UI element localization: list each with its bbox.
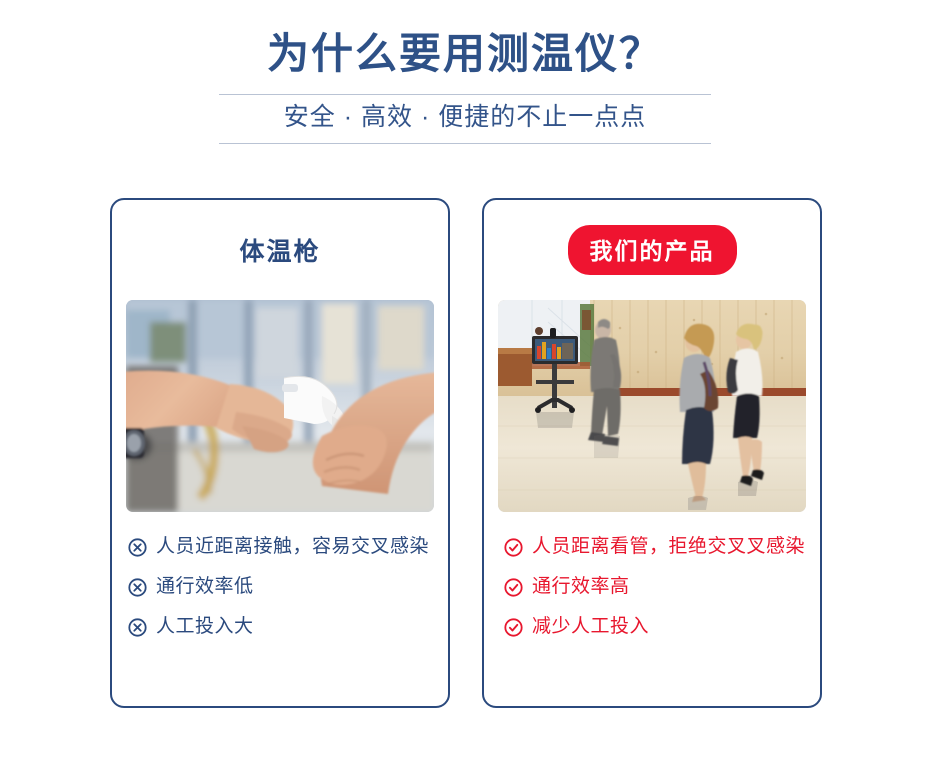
- list-item: 通行效率低: [128, 574, 436, 600]
- circle-check-icon: [504, 578, 523, 597]
- circle-x-icon: [128, 578, 147, 597]
- card-left-header: 体温枪: [112, 200, 448, 300]
- circle-check-icon: [504, 538, 523, 557]
- card-left-title: 体温枪: [239, 232, 320, 268]
- promo-page: 为什么要用测温仪？ 安全 · 高效 · 便捷的不止一点点 体温枪: [0, 0, 930, 771]
- page-header: 为什么要用测温仪？ 安全 · 高效 · 便捷的不止一点点: [0, 0, 930, 144]
- page-subtitle: 安全 · 高效 · 便捷的不止一点点: [219, 102, 711, 133]
- list-item-label: 减少人工投入: [532, 614, 649, 640]
- list-item-label: 人工投入大: [156, 614, 254, 640]
- list-item: 人员近距离接触，容易交叉感染: [128, 534, 436, 560]
- comparison-cards: 体温枪: [110, 198, 822, 708]
- list-item: 减少人工投入: [504, 614, 812, 640]
- circle-check-icon: [504, 618, 523, 637]
- subtitle-divider-band: 安全 · 高效 · 便捷的不止一点点: [219, 94, 711, 143]
- card-thermometer-gun: 体温枪: [110, 198, 450, 708]
- list-item: 人工投入大: [128, 614, 436, 640]
- card-right-bullet-list: 人员距离看管，拒绝交叉叉感染 通行效率高: [504, 534, 812, 641]
- list-item: 通行效率高: [504, 574, 812, 600]
- card-left-bullet-list: 人员近距离接触，容易交叉感染 通行效率低: [128, 534, 436, 641]
- circle-x-icon: [128, 618, 147, 637]
- photo-thermometer-gun: [126, 300, 434, 512]
- page-title: 为什么要用测温仪？: [0, 30, 930, 78]
- list-item-label: 通行效率高: [532, 574, 630, 600]
- card-our-product: 我们的产品: [482, 198, 822, 708]
- list-item: 人员距离看管，拒绝交叉叉感染: [504, 534, 812, 560]
- list-item-label: 人员近距离接触，容易交叉感染: [156, 534, 429, 560]
- photo-our-product: [498, 300, 806, 512]
- list-item-label: 通行效率低: [156, 574, 254, 600]
- photo-thermometer-gun-art: [126, 300, 434, 512]
- photo-our-product-art: [498, 300, 806, 512]
- status-badge: 我们的产品: [568, 225, 737, 275]
- card-right-header: 我们的产品: [484, 200, 820, 300]
- circle-x-icon: [128, 538, 147, 557]
- list-item-label: 人员距离看管，拒绝交叉叉感染: [532, 534, 805, 560]
